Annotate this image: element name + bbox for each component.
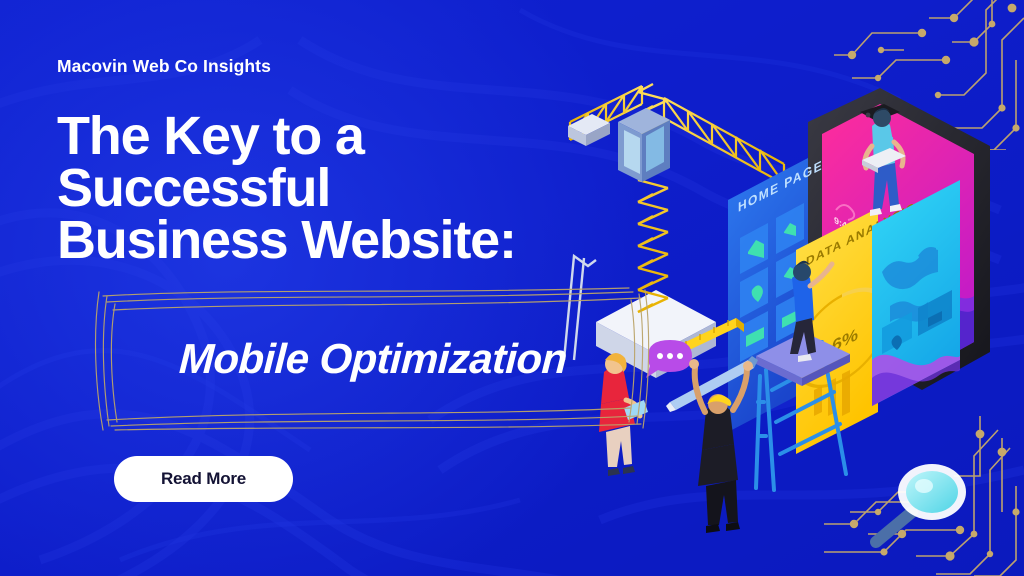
page-title: The Key to a Successful Business Website… [57,110,657,266]
headline-line-2: Successful [57,162,657,214]
magnifying-glass-icon [876,464,966,542]
subtitle-text: Mobile Optimization [89,286,657,431]
sketch-framed-subtitle: Mobile Optimization [93,286,653,431]
eyebrow-text: Macovin Web Co Insights [57,56,271,77]
promo-banner: 9:4 9:41 HOME PAGE [0,0,1024,576]
headline-line-1: The Key to a [57,110,657,162]
copy-block: Macovin Web Co Insights The Key to a Suc… [57,0,677,576]
read-more-button[interactable]: Read More [114,456,293,502]
headline-line-3: Business Website: [57,214,657,266]
